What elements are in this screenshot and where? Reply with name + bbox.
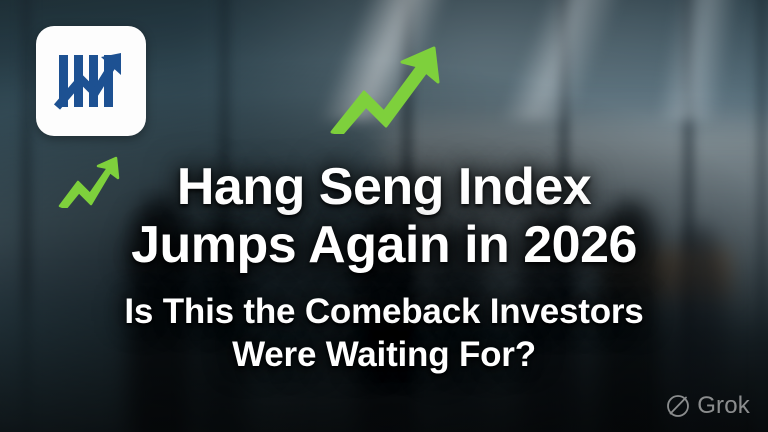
subheadline-line-2: Were Waiting For? [24, 333, 744, 376]
headline-line-1: Hang Seng Index [18, 158, 750, 216]
bar-chart-uptrend-logo-icon [51, 41, 131, 121]
page-subtitle: Is This the Comeback Investors Were Wait… [0, 290, 768, 376]
brand-logo [36, 26, 146, 136]
page-title: Hang Seng Index Jumps Again in 2026 [0, 158, 768, 274]
grok-watermark: Grok [665, 393, 750, 419]
grok-watermark-label: Grok [697, 394, 750, 418]
trending-up-arrow-large-icon [330, 44, 444, 134]
headline-line-2: Jumps Again in 2026 [18, 216, 750, 274]
thumbnail-card: Hang Seng Index Jumps Again in 2026 Is T… [0, 0, 768, 432]
subheadline-line-1: Is This the Comeback Investors [24, 290, 744, 333]
grok-slash-circle-icon [665, 393, 691, 419]
